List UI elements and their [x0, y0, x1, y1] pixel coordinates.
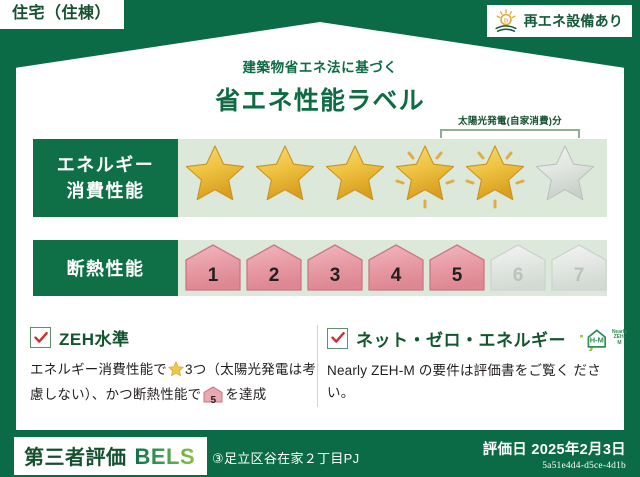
- energy-performance-row: エネルギー 消費性能 太陽光発電(自家消費)分: [33, 139, 607, 217]
- zeh-heading: ZEH水準: [30, 325, 318, 350]
- solar-bracket: [440, 129, 580, 138]
- energy-rating-panel: 太陽光発電(自家消費)分: [178, 139, 607, 217]
- insulation-level-on: 1: [184, 243, 242, 293]
- zeh-title: ZEH水準: [59, 325, 130, 350]
- netzero-description: Nearly ZEH-M の要件は評価書をご覧く ださい。: [327, 360, 619, 404]
- zeh-text-a: エネルギー消費性能で: [30, 362, 167, 377]
- insulation-level-off: 6: [489, 243, 547, 293]
- zeh-m-logo-caption: Nearly ZEH-M: [612, 330, 628, 346]
- svg-text:H-M: H-M: [590, 335, 604, 344]
- bels-logo: 第三者評価 BELS: [14, 437, 207, 475]
- evaluation-date: 評価日 2025年2月3日: [483, 438, 626, 459]
- insulation-level-number: 2: [245, 265, 303, 287]
- solar-annotation-label: 太陽光発電(自家消費)分: [440, 113, 580, 127]
- zeh-criteria-block: ZEH水準 エネルギー消費性能で3つ（太陽光発電は考慮しない）、かつ断熱性能で5…: [30, 325, 318, 410]
- insulation-level-on: 3: [306, 243, 364, 293]
- zeh-text-b: （太陽光発電: [206, 362, 288, 377]
- star-filled: [462, 143, 528, 213]
- footer-meta: 評価日 2025年2月3日 5a51e4d4-d5ce-4d1b: [483, 438, 626, 471]
- page-title: 省エネ性能ラベル: [0, 81, 640, 117]
- star-empty: [532, 143, 598, 213]
- bels-en-label: BELS: [135, 444, 196, 470]
- insulation-row-label: 断熱性能: [33, 240, 178, 296]
- inline-house-level: 5: [203, 393, 223, 409]
- insulation-level-number: 6: [489, 265, 547, 287]
- insulation-level-number: 7: [550, 265, 608, 287]
- renewable-badge-label: 再エネ設備あり: [524, 11, 623, 31]
- insulation-level-strip: 1234567: [184, 243, 608, 293]
- netzero-criteria-block: ネット・ゼロ・エネルギー H-M Nearly ZEH-M Nearly ZEH…: [327, 325, 619, 404]
- star-filled: [182, 143, 248, 213]
- star-filled: [392, 143, 458, 213]
- insulation-level-off: 7: [550, 243, 608, 293]
- heading-subtitle: 建築物省エネ法に基づく: [0, 56, 640, 76]
- sun-icon: D: [493, 9, 519, 33]
- bels-jp-label: 第三者評価: [24, 441, 127, 470]
- insulation-level-on: 4: [367, 243, 425, 293]
- star-filled: [322, 143, 388, 213]
- zeh-m-logo: H-M Nearly ZEH-M: [580, 325, 627, 351]
- zeh-text-d: を達成: [225, 387, 266, 402]
- insulation-level-number: 5: [428, 265, 486, 287]
- inline-star-icon: [168, 365, 184, 380]
- zeh-star-count: 3つ: [185, 362, 206, 377]
- inline-house-badge: 5: [203, 386, 223, 410]
- label-uid: 5a51e4d4-d5ce-4d1b: [483, 461, 626, 471]
- label-heading: 建築物省エネ法に基づく 省エネ性能ラベル: [0, 56, 640, 117]
- insulation-rating-panel: 1234567: [178, 240, 607, 296]
- renewable-equipment-badge: D 再エネ設備あり: [487, 5, 632, 37]
- zeh-checkbox: [30, 327, 51, 348]
- energy-star-strip: [182, 143, 598, 213]
- footer-bar: 第三者評価 BELS ③足立区谷在家２丁目PJ 評価日 2025年2月3日 5a…: [0, 430, 640, 477]
- star-filled: [252, 143, 318, 213]
- insulation-level-number: 1: [184, 265, 242, 287]
- netzero-checkbox: [327, 328, 348, 349]
- insulation-level-on: 2: [245, 243, 303, 293]
- energy-row-label: エネルギー 消費性能: [33, 139, 178, 217]
- svg-text:D: D: [503, 17, 508, 24]
- solar-contribution-annotation: 太陽光発電(自家消費)分: [440, 113, 580, 138]
- zeh-description: エネルギー消費性能で3つ（太陽光発電は考慮しない）、かつ断熱性能で5を達成: [30, 359, 318, 410]
- netzero-title: ネット・ゼロ・エネルギー: [356, 326, 566, 351]
- insulation-level-number: 4: [367, 265, 425, 287]
- category-chip: 住宅（住棟）: [0, 0, 124, 29]
- netzero-heading: ネット・ゼロ・エネルギー H-M Nearly ZEH-M: [327, 325, 619, 351]
- energy-performance-label: 住宅（住棟） D 再エネ設備あり 建築物省エネ法に基づく 省エネ性能ラベル: [0, 0, 640, 477]
- project-name: ③足立区谷在家２丁目PJ: [212, 448, 359, 467]
- insulation-level-on: 5: [428, 243, 486, 293]
- insulation-performance-row: 断熱性能 1234567: [33, 240, 607, 296]
- insulation-level-number: 3: [306, 265, 364, 287]
